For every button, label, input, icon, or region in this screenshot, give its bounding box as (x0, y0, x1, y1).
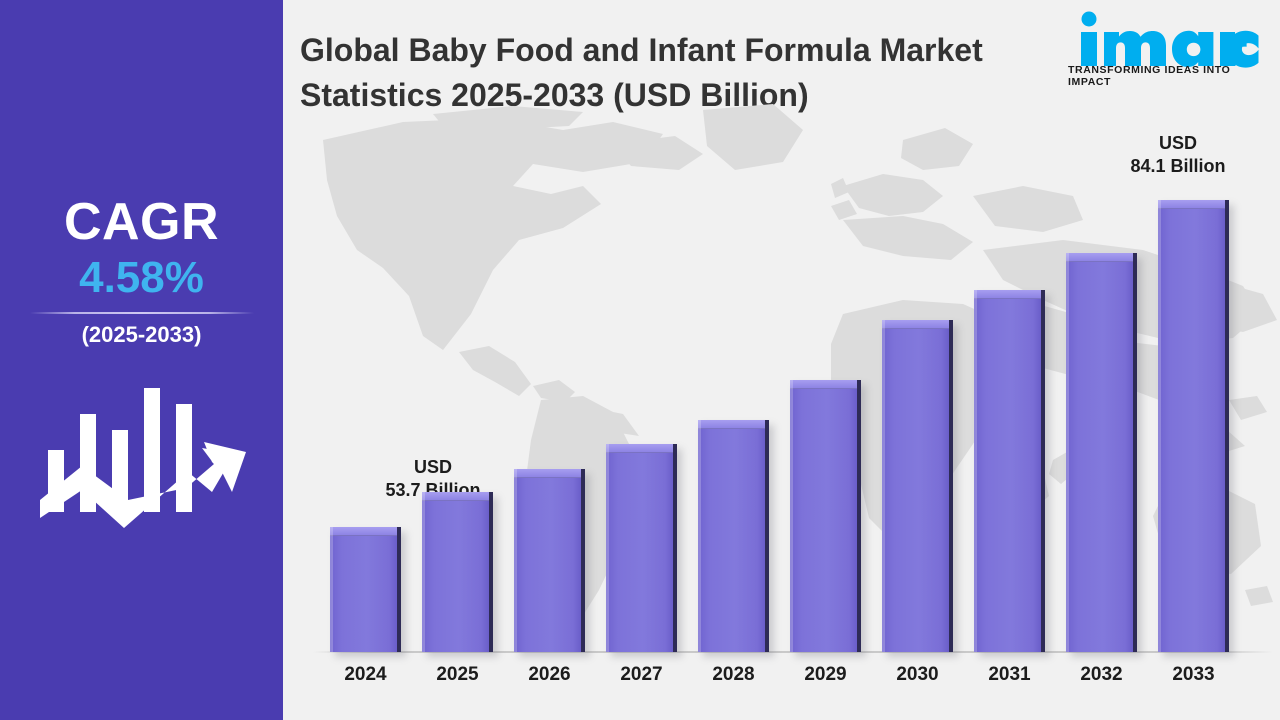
bar-2033 (1158, 200, 1229, 652)
bar-2026 (514, 469, 585, 652)
bar-2030 (882, 320, 953, 652)
growth-bar-chart-arrow-icon (36, 380, 248, 550)
infographic-canvas: CAGR 4.58% (2025-2033) Global Baby Food … (0, 0, 1280, 720)
value-label-first-currency: USD (414, 457, 452, 477)
bar-2027 (606, 444, 677, 652)
bar-2028 (698, 420, 769, 652)
cagr-divider (30, 312, 254, 314)
x-axis-label-2029: 2029 (784, 664, 867, 686)
x-axis-label-2030: 2030 (876, 664, 959, 686)
cagr-value: 4.58% (79, 256, 204, 300)
bar-2031 (974, 290, 1045, 652)
value-label-last-currency: USD (1159, 133, 1197, 153)
x-axis-label-2024: 2024 (324, 664, 407, 686)
x-axis-label-2025: 2025 (416, 664, 499, 686)
cagr-panel: CAGR 4.58% (2025-2033) (0, 0, 283, 720)
cagr-period: (2025-2033) (82, 324, 202, 346)
bar-chart-plot: USD 53.7 Billion USD 84.1 Billion 202420… (283, 0, 1280, 720)
value-label-last: USD 84.1 Billion (1078, 132, 1278, 177)
bar-2029 (790, 380, 861, 652)
x-axis-label-2033: 2033 (1152, 664, 1235, 686)
bar-2025 (422, 492, 493, 652)
bar-2032 (1066, 253, 1137, 652)
x-axis-label-2032: 2032 (1060, 664, 1143, 686)
x-axis-label-2026: 2026 (508, 664, 591, 686)
bar-2024 (330, 527, 401, 652)
value-label-last-amount: 84.1 Billion (1130, 156, 1225, 176)
x-axis-label-2031: 2031 (968, 664, 1051, 686)
cagr-title: CAGR (64, 196, 219, 248)
x-axis-label-2028: 2028 (692, 664, 775, 686)
x-axis-label-2027: 2027 (600, 664, 683, 686)
